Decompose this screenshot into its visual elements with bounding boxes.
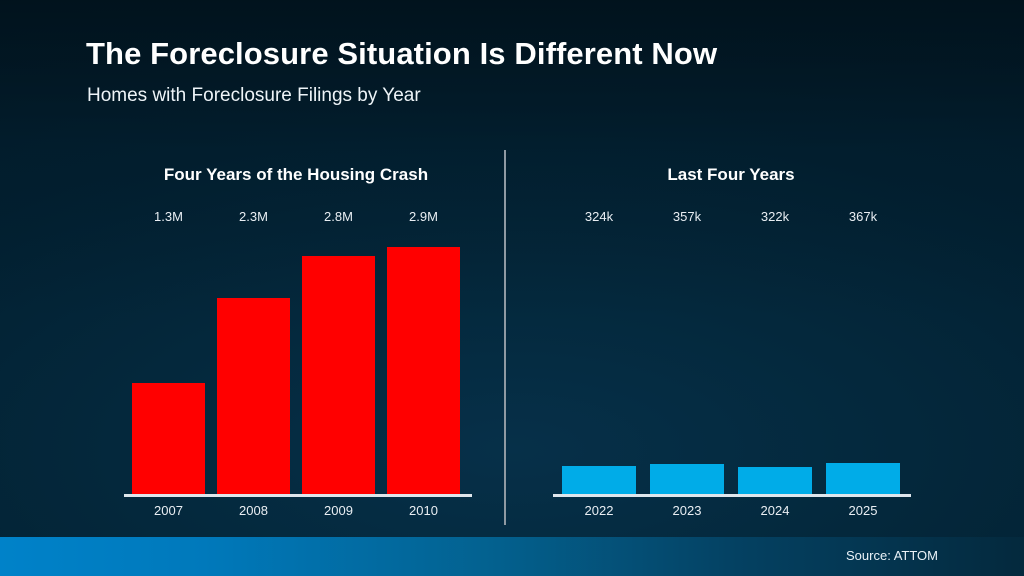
bar-category-label: 2024 bbox=[761, 503, 790, 518]
bar-category-label: 2007 bbox=[154, 503, 183, 518]
bar-value-label: 1.3M bbox=[154, 209, 183, 224]
chart-heading-last-four-years: Last Four Years bbox=[545, 165, 917, 185]
bar-group-housing-crash: 1.3M 2007 2.3M 2008 2.8M 2009 2.9M 2010 bbox=[110, 230, 482, 494]
bar-category-label: 2009 bbox=[324, 503, 353, 518]
x-axis-line bbox=[553, 494, 911, 497]
bar-item: 322k 2024 bbox=[738, 230, 812, 494]
bar-rect bbox=[562, 466, 636, 494]
bar-value-label: 2.3M bbox=[239, 209, 268, 224]
bar-value-label: 2.9M bbox=[409, 209, 438, 224]
bar-value-label: 324k bbox=[585, 209, 613, 224]
bar-rect bbox=[302, 256, 375, 494]
bar-rect bbox=[650, 464, 724, 494]
chart-heading-housing-crash: Four Years of the Housing Crash bbox=[110, 165, 482, 185]
bar-chart-last-four-years: 324k 2022 357k 2023 322k 2024 367k 2025 bbox=[545, 200, 917, 530]
bar-category-label: 2025 bbox=[849, 503, 878, 518]
bar-item: 2.3M 2008 bbox=[217, 230, 290, 494]
bar-item: 367k 2025 bbox=[826, 230, 900, 494]
bar-category-label: 2008 bbox=[239, 503, 268, 518]
bar-item: 324k 2022 bbox=[562, 230, 636, 494]
bar-item: 2.8M 2009 bbox=[302, 230, 375, 494]
bar-rect bbox=[738, 467, 812, 494]
bar-rect bbox=[826, 463, 900, 494]
bar-group-last-four-years: 324k 2022 357k 2023 322k 2024 367k 2025 bbox=[545, 230, 917, 494]
bar-item: 1.3M 2007 bbox=[132, 230, 205, 494]
x-axis-line bbox=[124, 494, 472, 497]
page-subtitle: Homes with Foreclosure Filings by Year bbox=[87, 85, 421, 107]
bar-value-label: 357k bbox=[673, 209, 701, 224]
bar-rect bbox=[217, 298, 290, 494]
bar-value-label: 367k bbox=[849, 209, 877, 224]
bar-value-label: 322k bbox=[761, 209, 789, 224]
bar-item: 357k 2023 bbox=[650, 230, 724, 494]
bar-chart-housing-crash: 1.3M 2007 2.3M 2008 2.8M 2009 2.9M 2010 bbox=[110, 200, 482, 530]
source-attribution: Source: ATTOM bbox=[846, 548, 938, 563]
bar-rect bbox=[132, 383, 205, 494]
panel-divider bbox=[504, 150, 506, 525]
bar-rect bbox=[387, 247, 460, 494]
bar-category-label: 2022 bbox=[585, 503, 614, 518]
bar-item: 2.9M 2010 bbox=[387, 230, 460, 494]
bar-category-label: 2023 bbox=[673, 503, 702, 518]
slide-canvas: The Foreclosure Situation Is Different N… bbox=[0, 0, 1024, 576]
bar-category-label: 2010 bbox=[409, 503, 438, 518]
bar-value-label: 2.8M bbox=[324, 209, 353, 224]
page-title: The Foreclosure Situation Is Different N… bbox=[86, 36, 717, 72]
